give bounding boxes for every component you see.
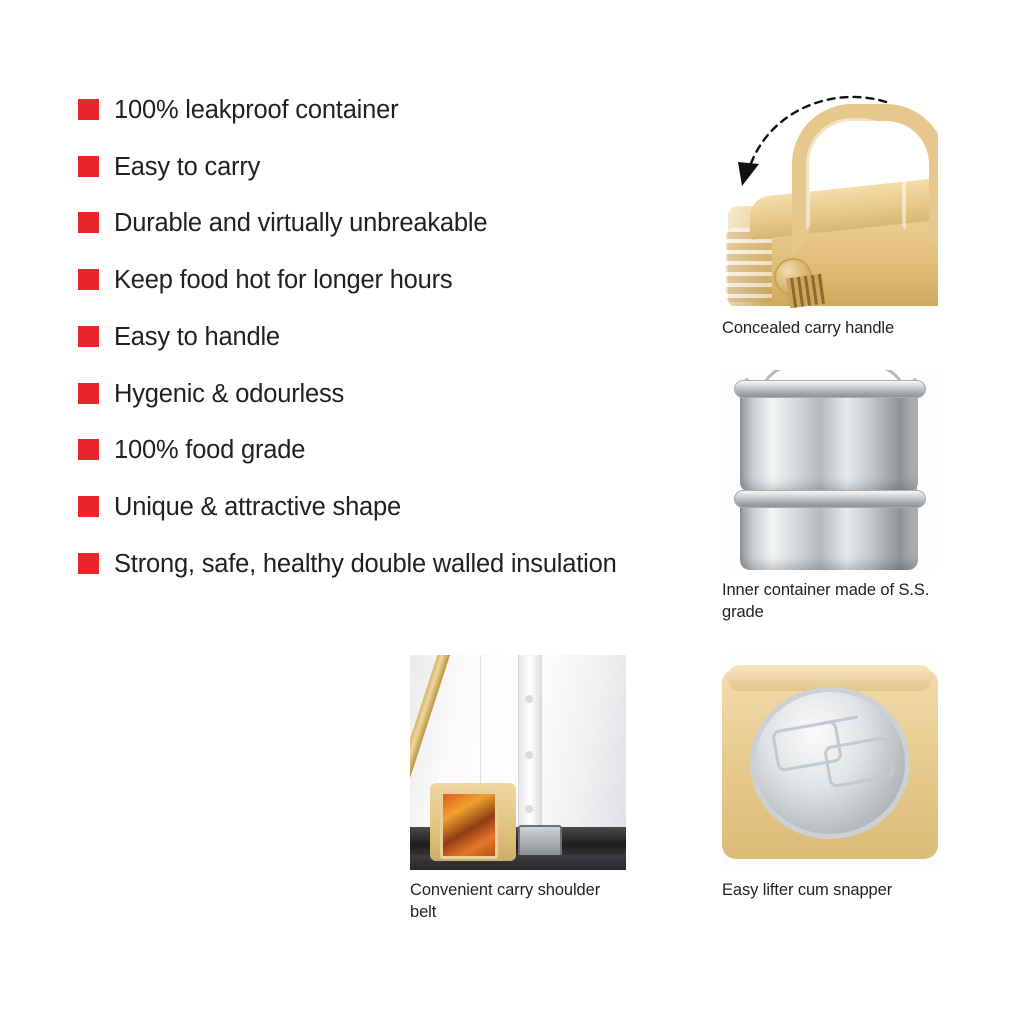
steel-tier-upper-shape xyxy=(740,388,918,492)
square-bullet-icon xyxy=(78,156,99,177)
square-bullet-icon xyxy=(78,553,99,574)
list-item: 100% leakproof container xyxy=(78,92,678,128)
panel-caption: Convenient carry shoulder belt xyxy=(410,879,622,924)
square-bullet-icon xyxy=(78,99,99,120)
list-item: Easy to carry xyxy=(78,149,678,185)
tiffin-ridges-shape xyxy=(726,228,772,302)
product-photo-lifter xyxy=(722,655,938,870)
feature-text: Hygenic & odourless xyxy=(114,376,344,412)
list-item: Strong, safe, healthy double walled insu… xyxy=(78,546,678,582)
feature-text: Keep food hot for longer hours xyxy=(114,262,453,298)
product-photo-handle xyxy=(722,88,938,308)
list-item: Durable and virtually unbreakable xyxy=(78,205,678,241)
steel-rim-upper-shape xyxy=(734,380,926,398)
shirt-button-shape xyxy=(525,805,533,813)
list-item: Unique & attractive shape xyxy=(78,489,678,525)
steel-tier-lower-shape xyxy=(740,498,918,570)
feature-text: Unique & attractive shape xyxy=(114,489,401,525)
square-bullet-icon xyxy=(78,269,99,290)
feature-text: Durable and virtually unbreakable xyxy=(114,205,487,241)
feature-text: Easy to carry xyxy=(114,149,260,185)
square-bullet-icon xyxy=(78,212,99,233)
product-photo-shoulder-belt xyxy=(410,655,626,870)
curved-arrow-icon xyxy=(726,88,896,208)
panel-inner-container: Inner container made of S.S. grade xyxy=(722,370,938,624)
product-feature-infographic: 100% leakproof container Easy to carry D… xyxy=(0,0,1024,1024)
panel-concealed-carry-handle: Concealed carry handle xyxy=(722,88,938,339)
square-bullet-icon xyxy=(78,439,99,460)
feature-list: 100% leakproof container Easy to carry D… xyxy=(78,92,678,602)
tiffin-food-window-shape xyxy=(440,791,498,859)
list-item: 100% food grade xyxy=(78,432,678,468)
square-bullet-icon xyxy=(78,496,99,517)
square-bullet-icon xyxy=(78,326,99,347)
panel-easy-lifter: Easy lifter cum snapper xyxy=(722,655,938,901)
shirt-button-shape xyxy=(525,695,533,703)
strap-shape xyxy=(786,274,826,308)
list-item: Keep food hot for longer hours xyxy=(78,262,678,298)
square-bullet-icon xyxy=(78,383,99,404)
feature-text: 100% leakproof container xyxy=(114,92,398,128)
feature-text: Strong, safe, healthy double walled insu… xyxy=(114,546,617,582)
panel-caption: Easy lifter cum snapper xyxy=(722,879,938,901)
panel-shoulder-belt: Convenient carry shoulder belt xyxy=(410,655,626,924)
steel-rim-lower-shape xyxy=(734,490,926,508)
list-item: Hygenic & odourless xyxy=(78,376,678,412)
panel-caption: Concealed carry handle xyxy=(722,317,938,339)
feature-text: Easy to handle xyxy=(114,319,280,355)
feature-text: 100% food grade xyxy=(114,432,305,468)
shirt-button-shape xyxy=(525,751,533,759)
list-item: Easy to handle xyxy=(78,319,678,355)
panel-caption: Inner container made of S.S. grade xyxy=(722,579,934,624)
product-photo-inner-container xyxy=(722,370,938,570)
